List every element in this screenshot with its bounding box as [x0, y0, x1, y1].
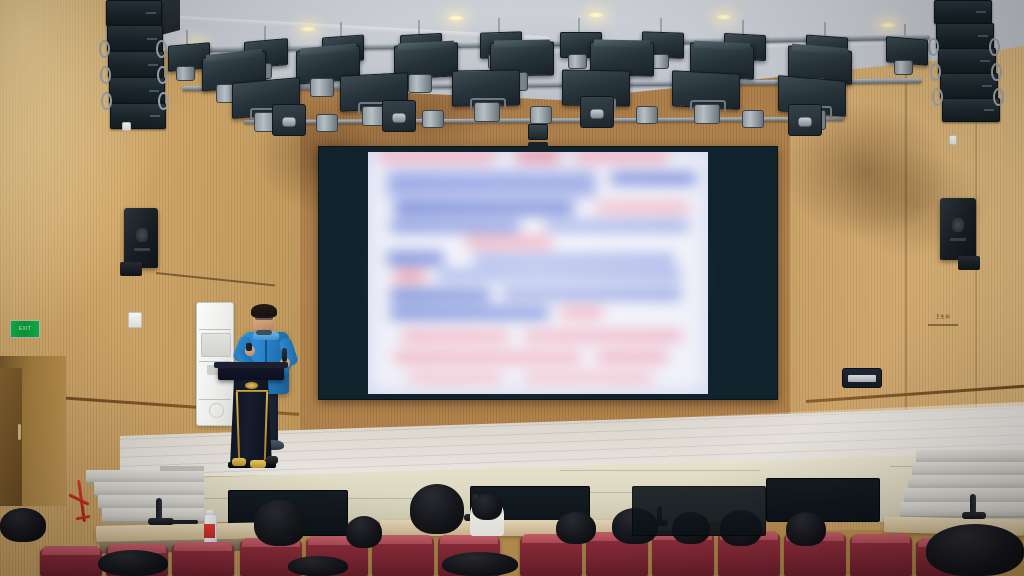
stair-landing — [160, 466, 204, 471]
exit-sign-label: EXIT — [11, 321, 39, 337]
wall-junction-box — [122, 122, 131, 131]
restroom-sign: 卫生间 — [926, 314, 960, 320]
wall-junction-box — [949, 135, 957, 145]
speaker-bracket — [120, 262, 142, 276]
ceiling-downlight — [588, 12, 604, 18]
presenter-neckline — [256, 330, 272, 335]
presenter-glasses — [255, 316, 273, 320]
stage-prop — [266, 456, 278, 464]
apron-seam — [560, 470, 760, 471]
wall-control-box[interactable] — [128, 312, 142, 328]
remote-control[interactable] — [172, 520, 198, 524]
ceiling-projector — [528, 124, 548, 140]
presenter-remote — [246, 343, 252, 351]
handheld-microphone — [282, 348, 287, 362]
ceiling-downlight — [716, 14, 732, 20]
screen-mount — [528, 142, 548, 148]
exit-sign: EXIT — [10, 320, 40, 338]
lectern-desk-lip — [214, 362, 288, 368]
speaker-grille — [136, 228, 148, 242]
speaker-grille — [952, 218, 964, 232]
stage-prop — [232, 458, 246, 466]
ceiling-downlight — [300, 26, 316, 32]
ceiling-downlight — [880, 22, 896, 28]
ceiling-downlight — [448, 15, 464, 21]
stage-prop — [250, 460, 266, 468]
sign-underline — [928, 324, 958, 326]
auditorium-photo: EXIT 卫生间 — [0, 0, 1024, 576]
door-handle[interactable] — [18, 424, 21, 440]
slide-content-blurred — [368, 152, 708, 394]
speaker-port — [950, 238, 966, 241]
projection-screen — [368, 152, 708, 394]
speaker-port — [134, 248, 150, 251]
front-display-panel — [632, 486, 766, 536]
front-display-panel — [766, 478, 880, 522]
speaker-bracket — [958, 256, 980, 270]
wall-control-panel[interactable] — [842, 368, 882, 388]
